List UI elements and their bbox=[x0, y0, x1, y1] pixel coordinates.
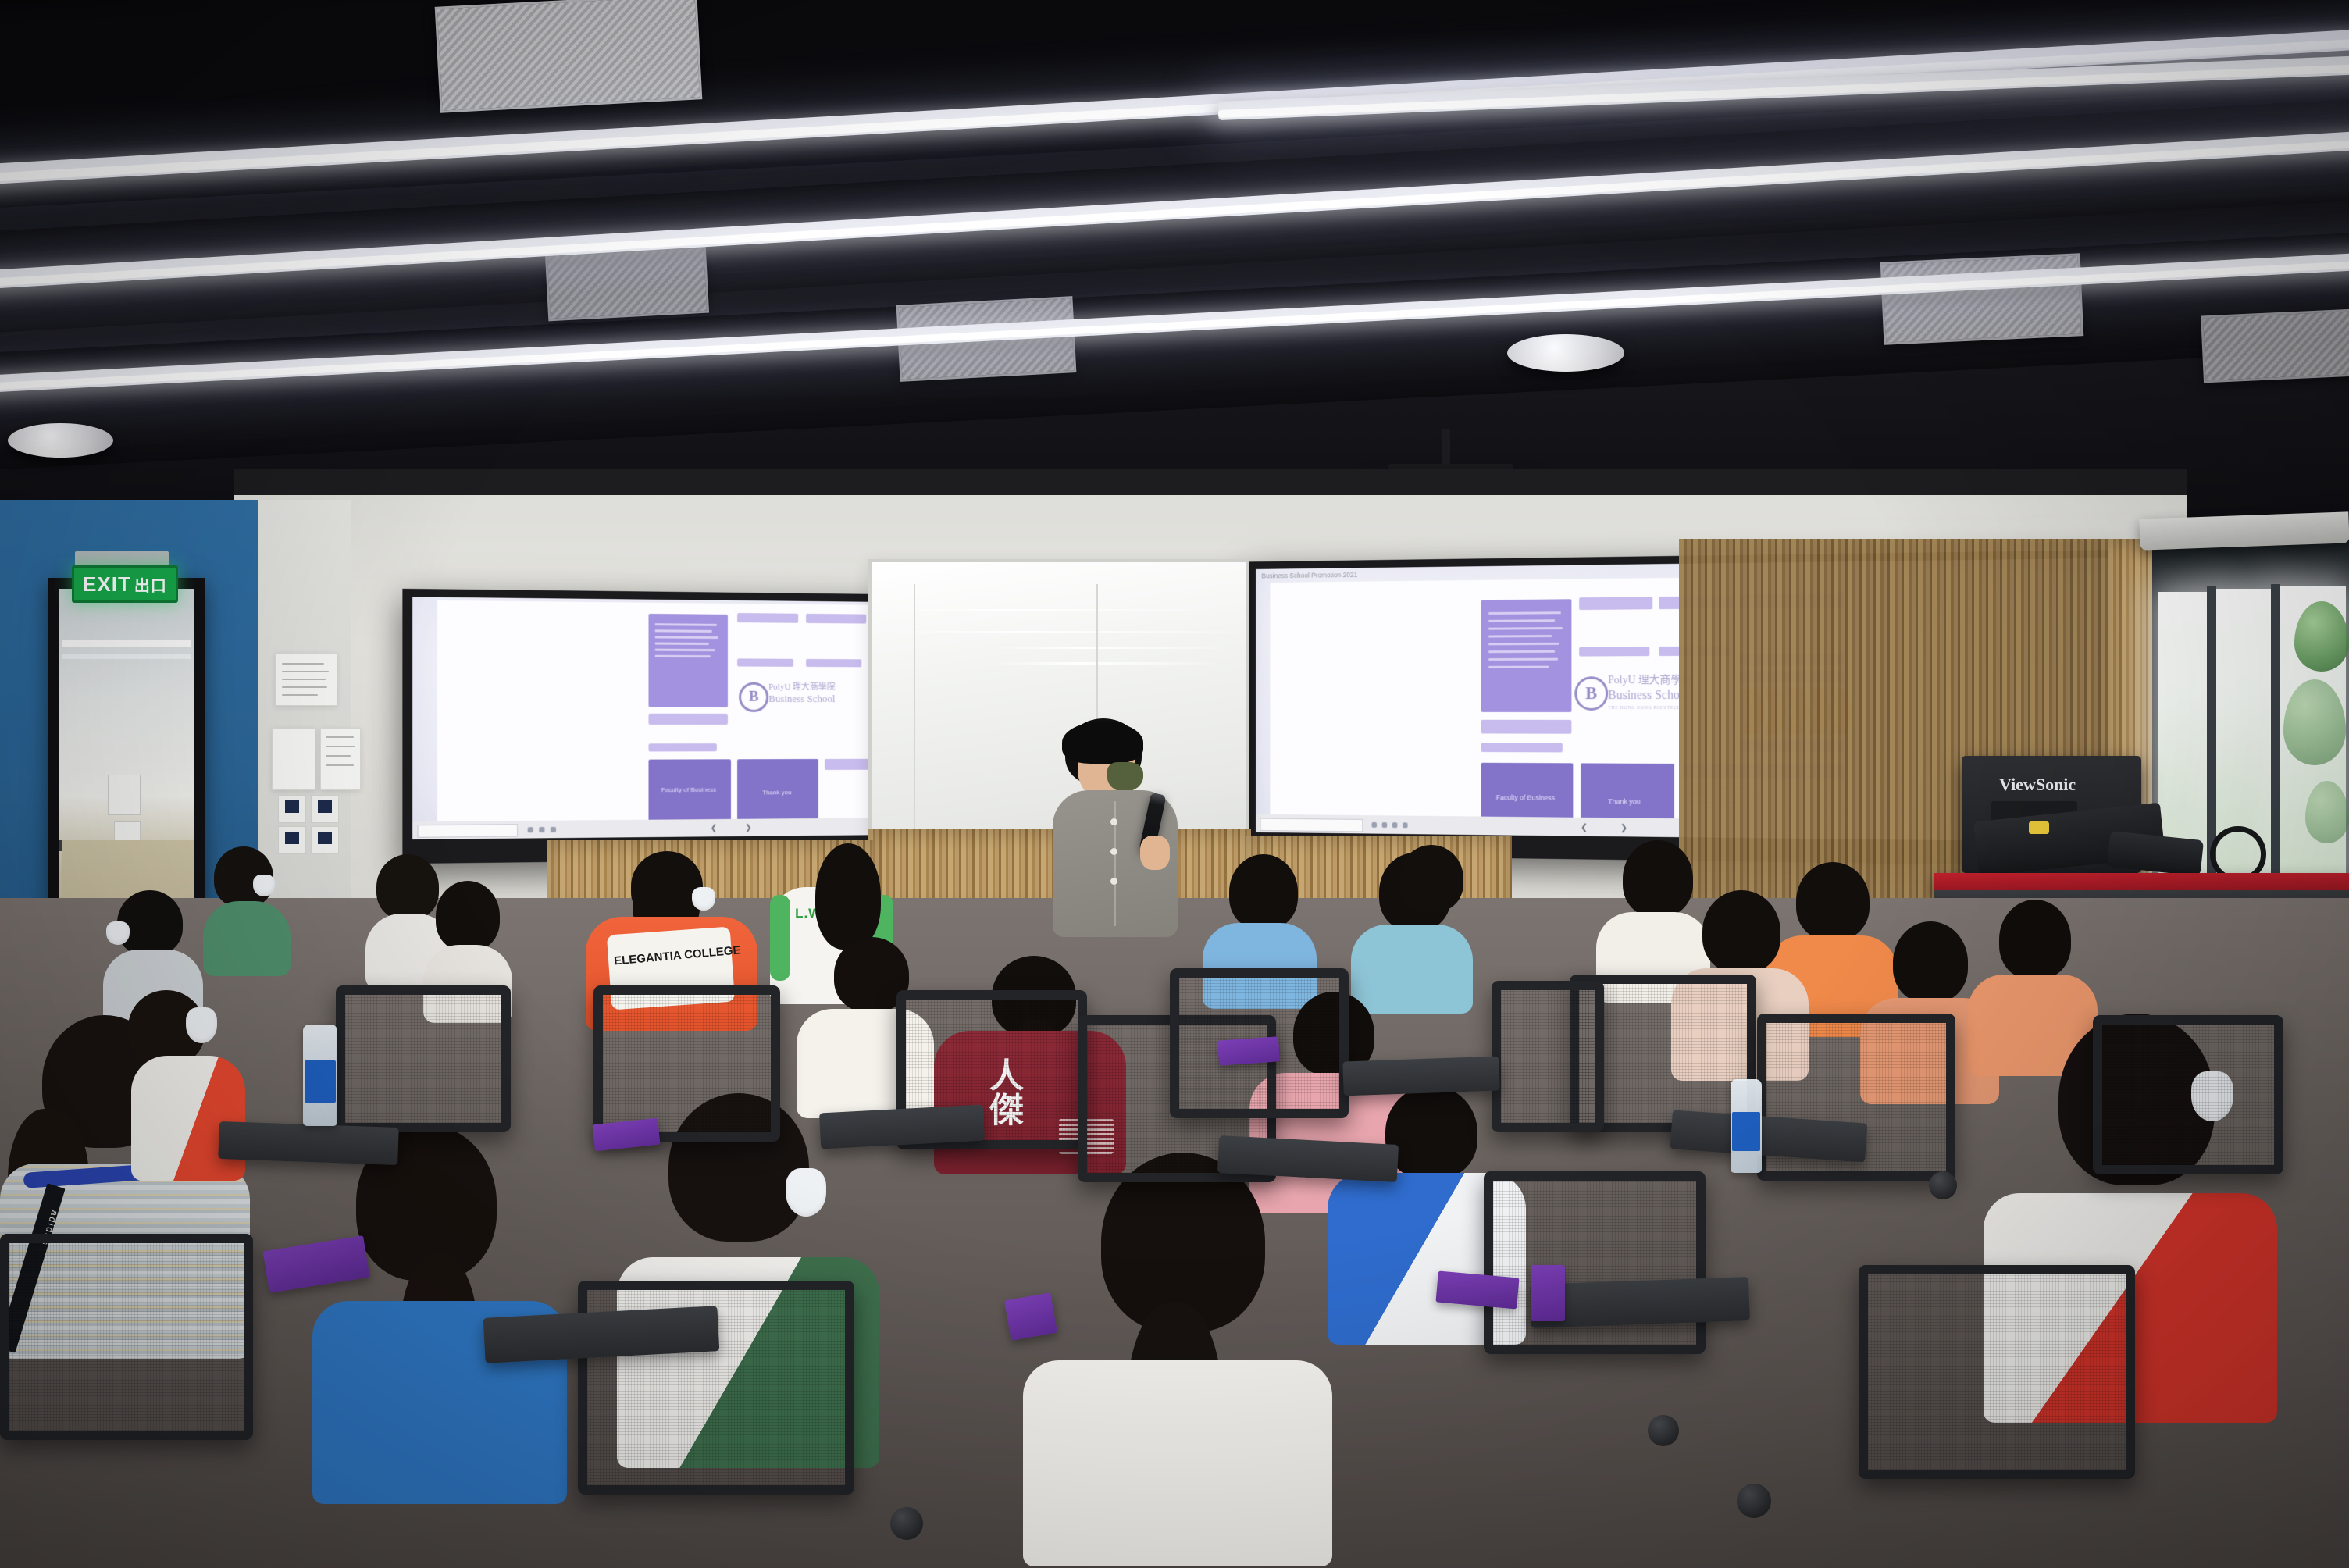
slide-card-thanks-right: Thank you bbox=[1608, 797, 1640, 805]
hvac-diffuser-2 bbox=[545, 246, 709, 322]
ceiling-speaker-2 bbox=[8, 423, 113, 458]
slide-card-thanks-left: Thank you bbox=[762, 789, 791, 796]
slide-logo-line2-right: Business School bbox=[1608, 689, 1689, 703]
window-pane-3 bbox=[2279, 586, 2346, 898]
exit-label-en: EXIT bbox=[83, 572, 131, 597]
presenter bbox=[1039, 718, 1210, 937]
door-notice-1 bbox=[108, 775, 141, 815]
lecture-hall-photo: EXIT 出口 bbox=[0, 0, 2349, 1568]
hvac-diffuser-1 bbox=[435, 0, 703, 113]
slide-logo-line1-left: PolyU 理大商學院 bbox=[768, 682, 835, 693]
notice-board-3 bbox=[320, 728, 361, 790]
notice-board-1 bbox=[275, 653, 337, 706]
chair-caster bbox=[1929, 1171, 1957, 1199]
wall-switch-4[interactable] bbox=[311, 826, 339, 854]
chair-caster bbox=[1648, 1415, 1679, 1446]
wall-switch-2[interactable] bbox=[311, 795, 339, 823]
slide-card-faculty-left: Faculty of Business bbox=[661, 786, 716, 793]
exit-label-zh: 出口 bbox=[134, 573, 167, 596]
chair[interactable] bbox=[1492, 981, 1604, 1132]
chair[interactable] bbox=[0, 1234, 253, 1440]
promo-bag[interactable] bbox=[1217, 1036, 1280, 1065]
hvac-diffuser-4 bbox=[1880, 253, 2084, 345]
exit-sign: EXIT 出口 bbox=[72, 565, 178, 603]
wall-top-shadow bbox=[234, 469, 2187, 495]
water-bottle[interactable] bbox=[303, 1025, 337, 1126]
slide-logo-mark-right: B bbox=[1574, 676, 1608, 711]
presenter-face-mask bbox=[1107, 762, 1143, 792]
chair[interactable] bbox=[593, 985, 780, 1142]
presenter-hand bbox=[1140, 836, 1170, 870]
audience-person bbox=[200, 846, 294, 971]
chair[interactable] bbox=[1484, 1171, 1706, 1354]
audience-person bbox=[1379, 845, 1481, 970]
chair[interactable] bbox=[336, 985, 511, 1132]
tablet-arm-desk[interactable] bbox=[1342, 1057, 1499, 1096]
audience-person bbox=[312, 1124, 570, 1499]
exit-sign-bracket bbox=[75, 551, 169, 565]
notice-board-2 bbox=[272, 728, 315, 790]
equipment-warning-label bbox=[2029, 821, 2049, 834]
chair[interactable] bbox=[2093, 1015, 2283, 1174]
chair-caster bbox=[1737, 1484, 1771, 1518]
promo-bag[interactable] bbox=[1531, 1265, 1565, 1321]
slide-logo-mark-left: B bbox=[739, 682, 768, 712]
slide-card-faculty-right: Faculty of Business bbox=[1496, 793, 1555, 801]
wall-switch-1[interactable] bbox=[278, 795, 306, 823]
tablet-arm-desk[interactable] bbox=[218, 1121, 399, 1165]
chair-caster bbox=[890, 1507, 923, 1540]
slide-window-title-right: Business School Promotion 2021 bbox=[1261, 571, 1357, 579]
chair[interactable] bbox=[1859, 1265, 2135, 1479]
monitor-brand-label: ViewSonic bbox=[1999, 775, 2076, 795]
hvac-diffuser-5 bbox=[2201, 309, 2349, 383]
slide-logo-line2-left: Business School bbox=[768, 693, 835, 705]
promo-bag[interactable] bbox=[1004, 1292, 1057, 1341]
ceiling-speaker-1 bbox=[1507, 334, 1624, 372]
audience-person bbox=[1023, 1153, 1335, 1566]
water-bottle[interactable] bbox=[1731, 1079, 1762, 1173]
